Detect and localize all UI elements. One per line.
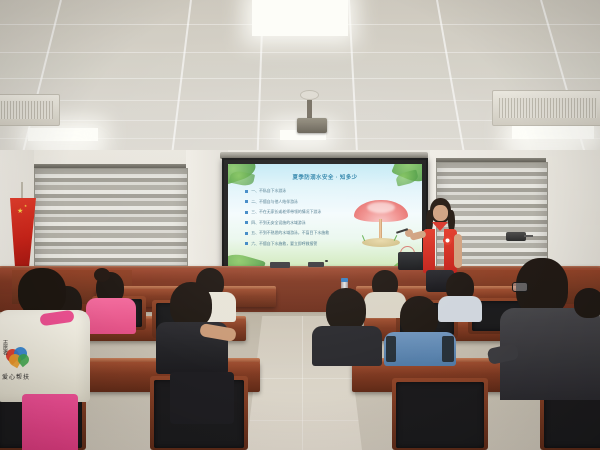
air-conditioner-left — [0, 94, 60, 126]
bullet-marker-icon — [245, 221, 248, 224]
girl-volunteer-pink-skirt — [22, 394, 78, 450]
chair-back-near — [396, 382, 484, 448]
parasol-illustration — [354, 194, 408, 246]
presentation-slide: 夏季防溺水安全 · 知多少 一、不私自下水游泳 二、不擅自与他人结伴游泳 三、不… — [228, 164, 422, 268]
slide-bullet-item: 一、不私自下水游泳 — [245, 188, 360, 194]
ceiling — [0, 0, 600, 165]
desk-equipment-center — [308, 262, 324, 267]
bullet-marker-icon — [245, 242, 248, 245]
bullet-marker-icon — [245, 190, 248, 193]
presenter-vest-logo-icon — [443, 236, 452, 245]
ceiling-projector — [297, 118, 327, 133]
classroom-photo: ★ ★ 夏季防溺水安全 · 知多少 一、不私自下水游泳 二、不擅自与他人结伴游泳 — [0, 0, 600, 450]
slide-bullet-item: 六、不擅自下水施救，要立即呼救报警 — [245, 241, 360, 247]
air-conditioner-right — [492, 90, 600, 126]
parasol-highlight — [367, 202, 395, 213]
presenter-face — [433, 205, 448, 221]
slide-title: 夏季防溺水安全 · 知多少 — [228, 173, 422, 181]
laser-pointer-dot — [325, 260, 328, 263]
ceiling-panel-light-right — [512, 126, 594, 139]
projector-mount — [307, 100, 312, 120]
smoke-detector-icon — [300, 90, 319, 100]
slide-bullet-item: 五、不到不熟悉的水域游泳，不盲目下水施救 — [245, 230, 360, 236]
volunteer-vest-text-bottom: 爱心帮扶 — [2, 372, 60, 381]
presenter-arm-left — [454, 234, 462, 268]
flag-star-small-icon: ★ — [24, 205, 27, 209]
slide-bullet-item: 三、不在无家长或老师带领的情况下游泳 — [245, 209, 360, 215]
ceiling-panel-light-left — [28, 128, 98, 141]
window-blinds-left[interactable] — [34, 168, 188, 276]
bullet-marker-icon — [245, 200, 248, 203]
slide-bullet-item: 二、不擅自与他人结伴游泳 — [245, 199, 360, 205]
flag-star-large-icon: ★ — [17, 208, 23, 215]
child-blue-jersey-stripe-right — [442, 336, 454, 362]
wall-mounted-speaker — [506, 232, 526, 241]
slide-bullet-list: 一、不私自下水游泳 二、不擅自与他人结伴游泳 三、不在无家长或老师带领的情况下游… — [245, 188, 360, 252]
volunteer-heart-logo — [6, 344, 32, 368]
child-blue-jersey-stripe — [386, 336, 396, 362]
speaker-bracket — [524, 235, 533, 237]
desk-equipment-left — [270, 262, 290, 268]
slide-bullet-item: 四、不到无安全设施的水域游泳 — [245, 220, 360, 226]
bottle-cap-icon — [341, 278, 348, 282]
child-volunteer-girl-front-left: 志愿者 爱心帮扶 — [0, 268, 100, 450]
child-row3-right-body — [438, 296, 482, 322]
child-far-right-head — [574, 288, 600, 318]
child-near-right-body — [312, 326, 382, 366]
child-black-shirt-legs — [170, 372, 234, 424]
volunteer-vest-text-top: 志愿者 — [0, 340, 8, 355]
ceiling-panel-light-center — [252, 0, 348, 36]
teen-right-glasses-icon — [512, 282, 528, 292]
bullet-marker-icon — [245, 232, 248, 235]
bullet-marker-icon — [245, 211, 248, 214]
